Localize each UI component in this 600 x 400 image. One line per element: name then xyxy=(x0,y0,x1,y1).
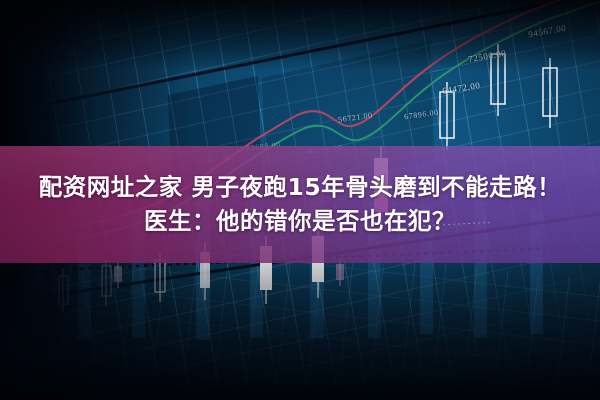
headline-line-2: 医生：他的错你是否也在犯？ xyxy=(144,206,456,236)
headline-block: 配资网址之家 男子夜跑15年骨头磨到不能走路！ 医生：他的错你是否也在犯？ xyxy=(0,148,600,260)
headline-line-1: 配资网址之家 男子夜跑15年骨头磨到不能走路！ xyxy=(39,172,561,202)
promo-banner: 94567.00 72500.00 64472.00 56721.00 6789… xyxy=(0,0,600,400)
